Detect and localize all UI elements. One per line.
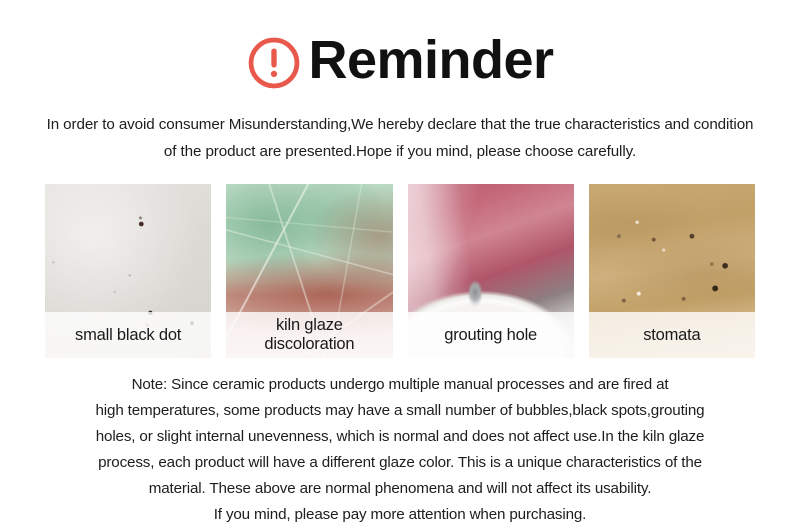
caption-line: kiln glaze xyxy=(264,316,354,335)
caption-line: discoloration xyxy=(264,335,354,354)
defect-example-gallery: small black dot kiln glaze discoloration… xyxy=(45,184,755,358)
disclaimer-note: Note: Since ceramic products undergo mul… xyxy=(18,372,782,528)
note-line-6: If you mind, please pay more attention w… xyxy=(18,502,782,528)
note-line-3: holes, or slight internal unevenness, wh… xyxy=(18,424,782,450)
defect-card-caption: stomata xyxy=(589,312,755,358)
note-line-4: process, each product will have a differ… xyxy=(18,450,782,476)
subtitle: In order to avoid consumer Misunderstand… xyxy=(28,111,772,165)
caption-line: small black dot xyxy=(75,326,181,345)
defect-card-kiln-glaze-discoloration: kiln glaze discoloration xyxy=(226,184,392,358)
caption-line: stomata xyxy=(643,326,700,345)
subtitle-line-2: of the product are presented.Hope if you… xyxy=(28,138,772,165)
defect-card-caption: kiln glaze discoloration xyxy=(226,312,392,358)
defect-card-caption: small black dot xyxy=(45,312,211,358)
page-title: Reminder xyxy=(308,33,553,87)
defect-card-stomata: stomata xyxy=(589,184,755,358)
defect-card-small-black-dot: small black dot xyxy=(45,184,211,358)
page-header: Reminder xyxy=(0,0,800,93)
subtitle-line-1: In order to avoid consumer Misunderstand… xyxy=(28,111,772,138)
note-line-2: high temperatures, some products may hav… xyxy=(18,398,782,424)
exclamation-circle-icon xyxy=(246,35,302,91)
defect-card-caption: grouting hole xyxy=(408,312,574,358)
note-line-5: material. These above are normal phenome… xyxy=(18,476,782,502)
caption-line: grouting hole xyxy=(444,326,537,345)
note-line-1: Note: Since ceramic products undergo mul… xyxy=(18,372,782,398)
defect-card-grouting-hole: grouting hole xyxy=(408,184,574,358)
